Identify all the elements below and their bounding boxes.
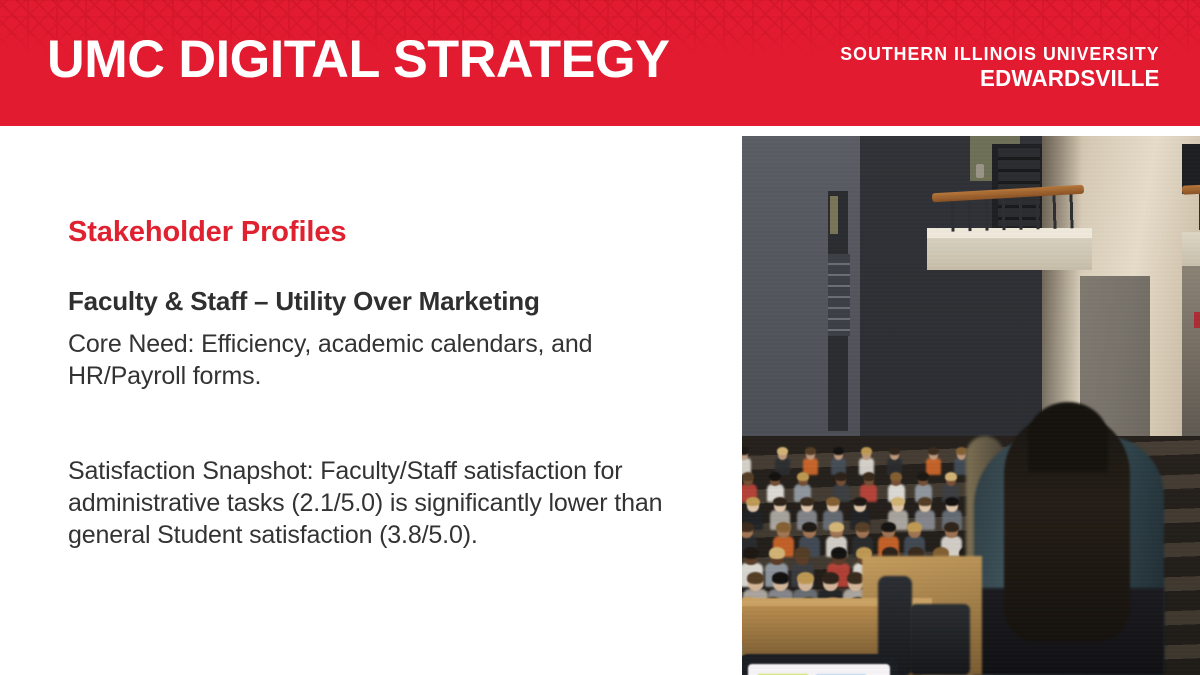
content-column: Stakeholder Profiles Faculty & Staff – U…: [68, 150, 688, 552]
paragraph-core-need: Core Need: Efficiency, academic calendar…: [68, 317, 688, 393]
siue-logo: SOUTHERN ILLINOIS UNIVERSITY EDWARDSVILL…: [827, 44, 1160, 91]
slide-header-bar: UMC DIGITAL STRATEGY SOUTHERN ILLINOIS U…: [0, 0, 1200, 126]
section-heading: Stakeholder Profiles: [68, 150, 688, 250]
sub-heading: Faculty & Staff – Utility Over Marketing: [68, 250, 688, 317]
logo-campus-name: EDWARDSVILLE: [837, 66, 1160, 92]
logo-university-name: SOUTHERN ILLINOIS UNIVERSITY: [841, 44, 1160, 65]
slide: UMC DIGITAL STRATEGY SOUTHERN ILLINOIS U…: [0, 0, 1200, 675]
photo-grain-overlay: [742, 136, 1200, 675]
page-title: UMC DIGITAL STRATEGY: [47, 33, 669, 86]
lecture-hall-photo: [742, 136, 1200, 675]
paragraph-satisfaction-snapshot: Satisfaction Snapshot: Faculty/Staff sat…: [68, 392, 688, 551]
